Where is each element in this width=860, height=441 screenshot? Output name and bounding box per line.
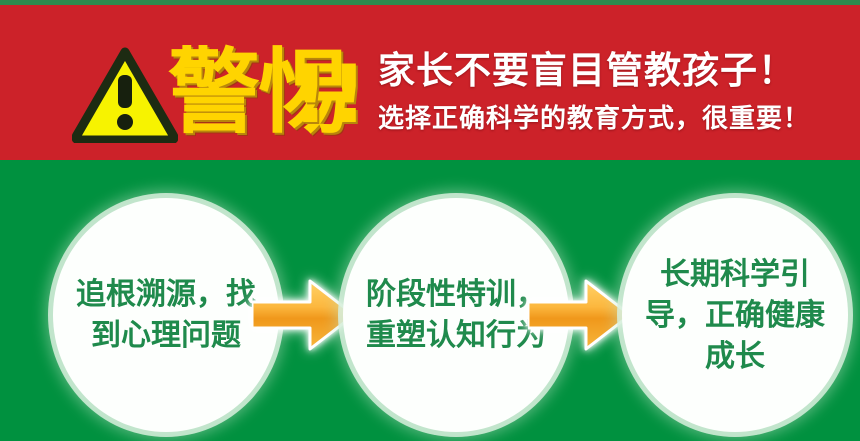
banner-subheadline: 选择正确科学的教育方式，很重要！ (378, 103, 810, 135)
warning-triangle-icon (72, 47, 178, 143)
promo-poster: 警惕 !! 家长不要盲目管教孩子！ 选择正确科学的教育方式，很重要！ 追根溯源，… (0, 0, 860, 441)
flow-step-1-label: 追根溯源，找到心理问题 (73, 274, 259, 356)
warning-banner: 警惕 !! 家长不要盲目管教孩子！ 选择正确科学的教育方式，很重要！ (0, 5, 860, 160)
flow-step-3: 长期科学引导，正确健康成长 (622, 198, 848, 432)
flow-step-2-label: 阶段性特训，重塑认知行为 (363, 274, 549, 356)
banner-headline: 家长不要盲目管教孩子！ (378, 49, 796, 93)
flow-step-1: 追根溯源，找到心理问题 (53, 198, 279, 432)
arrow-right-icon-2 (528, 278, 632, 352)
arrow-right-icon-1 (252, 278, 356, 352)
alarm-exclamation: !! (292, 49, 369, 141)
flow-step-3-label: 长期科学引导，正确健康成长 (642, 254, 828, 377)
